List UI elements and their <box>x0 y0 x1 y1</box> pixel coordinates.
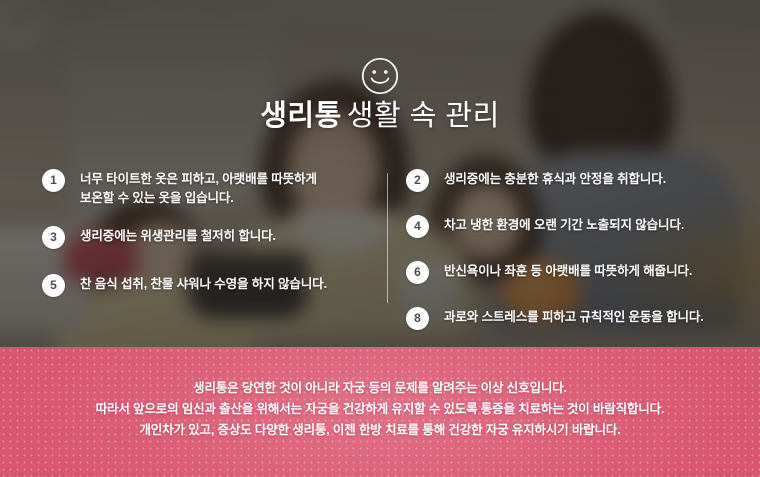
tip-text: 생리중에는 충분한 휴식과 안정을 취합니다. <box>444 167 736 189</box>
tip-number-badge: 6 <box>406 261 429 284</box>
page-title: 생리통생활 속 관리 <box>0 99 760 133</box>
tip-number-badge: 5 <box>42 274 65 297</box>
list-item: 3 생리중에는 위생관리를 철저히 합니다. <box>42 224 382 256</box>
list-item: 6 반신욕이나 좌훈 등 아랫배를 따뜻하게 해줍니다. <box>406 259 736 291</box>
promo-banner: 생리통생활 속 관리 1 너무 타이트한 옷은 피하고, 아랫배를 따뜻하게 보… <box>0 0 760 477</box>
page-title-strong: 생리통 <box>260 100 342 132</box>
tip-line: 반신욕이나 좌훈 등 아랫배를 따뜻하게 해줍니다. <box>444 262 736 281</box>
list-item: 8 과로와 스트레스를 피하고 규칙적인 운동을 합니다. <box>406 305 736 337</box>
list-item: 1 너무 타이트한 옷은 피하고, 아랫배를 따뜻하게 보온할 수 있는 옷을 … <box>42 167 382 208</box>
tip-line: 차고 냉한 환경에 오랜 기간 노출되지 않습니다. <box>444 216 736 235</box>
tip-line: 찬 음식 섭취, 찬물 샤워나 수영을 하지 않습니다. <box>80 275 382 294</box>
smiley-face-icon <box>361 57 399 95</box>
tip-text: 차고 냉한 환경에 오랜 기간 노출되지 않습니다. <box>444 213 736 235</box>
tip-line: 과로와 스트레스를 피하고 규칙적인 운동을 합니다. <box>444 308 736 327</box>
tip-number-badge: 8 <box>406 307 429 330</box>
tip-text: 과로와 스트레스를 피하고 규칙적인 운동을 합니다. <box>444 305 736 327</box>
tip-text: 반신욕이나 좌훈 등 아랫배를 따뜻하게 해줍니다. <box>444 259 736 281</box>
list-item: 2 생리중에는 충분한 휴식과 안정을 취합니다. <box>406 167 736 199</box>
tip-text: 생리중에는 위생관리를 철저히 합니다. <box>80 224 382 246</box>
footer-line: 개인차가 있고, 증상도 다양한 생리통, 이젠 한방 치료를 통해 건강한 자… <box>0 420 760 441</box>
tip-number-badge: 1 <box>42 169 65 192</box>
tip-line: 보온할 수 있는 옷을 입습니다. <box>80 189 382 208</box>
banner-content: 생리통생활 속 관리 1 너무 타이트한 옷은 피하고, 아랫배를 따뜻하게 보… <box>0 0 760 477</box>
footer-message-band: 생리통은 당연한 것이 아니라 자궁 등의 문제를 알려주는 이상 신호입니다.… <box>0 347 760 477</box>
tip-text: 찬 음식 섭취, 찬물 샤워나 수영을 하지 않습니다. <box>80 272 382 294</box>
list-item: 4 차고 냉한 환경에 오랜 기간 노출되지 않습니다. <box>406 213 736 245</box>
tip-text: 너무 타이트한 옷은 피하고, 아랫배를 따뜻하게 보온할 수 있는 옷을 입습… <box>80 167 382 208</box>
tip-line: 생리중에는 위생관리를 철저히 합니다. <box>80 227 382 246</box>
tips-right-column: 2 생리중에는 충분한 휴식과 안정을 취합니다. 4 차고 냉한 환경에 오랜… <box>406 167 736 351</box>
list-item: 5 찬 음식 섭취, 찬물 샤워나 수영을 하지 않습니다. <box>42 272 382 304</box>
page-title-light: 생활 속 관리 <box>347 100 500 132</box>
footer-line: 따라서 앞으로의 임신과 출산을 위해서는 자궁을 건강하게 유지할 수 있도록… <box>0 399 760 420</box>
tip-number-badge: 3 <box>42 226 65 249</box>
tips-left-column: 1 너무 타이트한 옷은 피하고, 아랫배를 따뜻하게 보온할 수 있는 옷을 … <box>42 167 382 320</box>
tip-line: 생리중에는 충분한 휴식과 안정을 취합니다. <box>444 170 736 189</box>
tip-number-badge: 4 <box>406 215 429 238</box>
tip-number-badge: 2 <box>406 169 429 192</box>
column-divider <box>387 173 388 303</box>
footer-line: 생리통은 당연한 것이 아니라 자궁 등의 문제를 알려주는 이상 신호입니다. <box>0 378 760 399</box>
footer-text: 생리통은 당연한 것이 아니라 자궁 등의 문제를 알려주는 이상 신호입니다.… <box>0 378 760 441</box>
tip-line: 너무 타이트한 옷은 피하고, 아랫배를 따뜻하게 <box>80 170 382 189</box>
